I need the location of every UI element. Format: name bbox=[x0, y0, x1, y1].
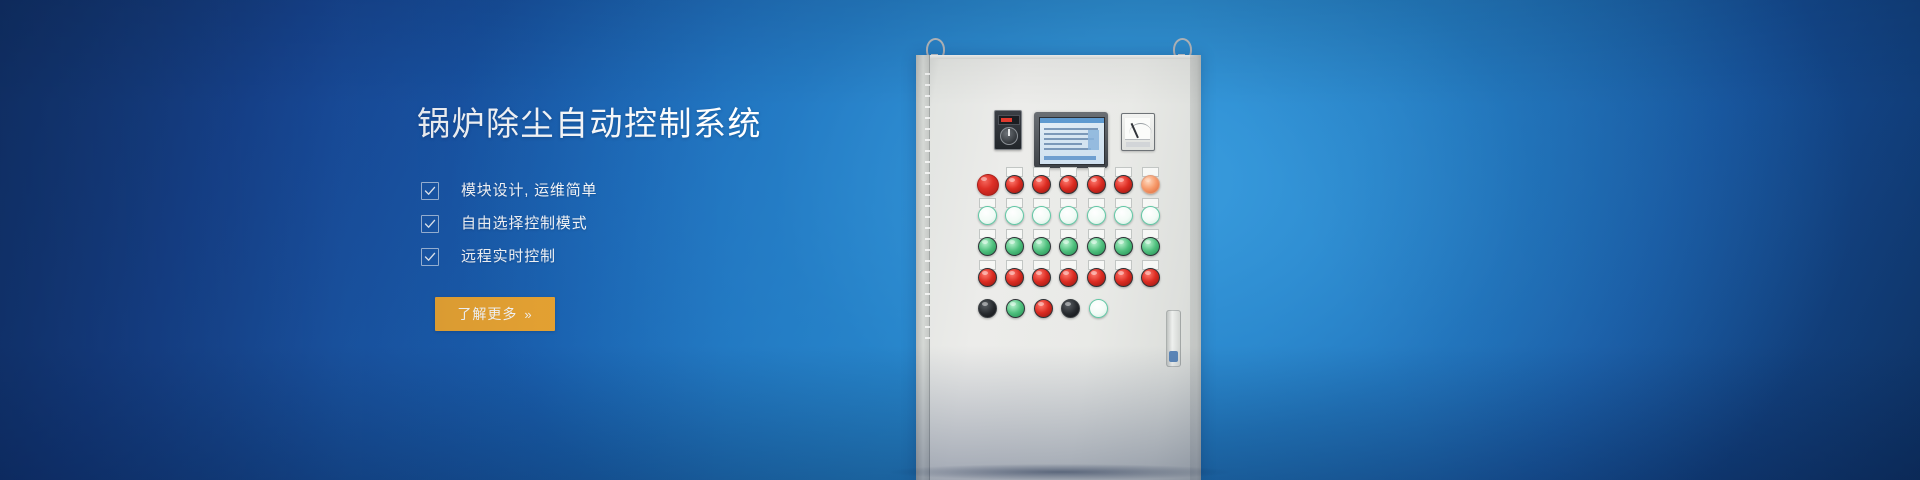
indicator-lamp-amber bbox=[1141, 175, 1158, 192]
indicator-lamp-green bbox=[978, 237, 995, 254]
indicator-lamp-green bbox=[1114, 237, 1131, 254]
lamp-row bbox=[978, 299, 1106, 316]
indicator-lamp-red bbox=[1059, 175, 1076, 192]
cabinet-top-edge bbox=[916, 55, 1201, 59]
list-item: 远程实时控制 bbox=[417, 240, 887, 273]
indicator-lamp-green bbox=[1059, 237, 1076, 254]
lamp-row bbox=[978, 237, 1158, 254]
meter-face bbox=[1125, 118, 1150, 140]
indicator-lamp-red bbox=[1032, 175, 1049, 192]
cabinet-body bbox=[916, 55, 1201, 480]
indicator-lamp-green bbox=[1005, 237, 1022, 254]
indicator-lamp-red bbox=[1114, 175, 1131, 192]
indicator-lamp-white bbox=[1141, 206, 1158, 223]
indicator-lamp-green bbox=[1006, 299, 1023, 316]
banner-copy-block: 锅炉除尘自动控制系统 模块设计, 运维简单 自由选择控制模式 bbox=[417, 104, 887, 331]
indicator-lamp-red bbox=[1005, 175, 1022, 192]
selector-switch-black bbox=[1061, 299, 1078, 316]
hinge-teeth bbox=[925, 73, 930, 373]
hero-banner: 锅炉除尘自动控制系统 模块设计, 运维简单 自由选择控制模式 bbox=[0, 0, 1920, 480]
indicator-lamp-white bbox=[1089, 299, 1106, 316]
indicator-lamp-grid bbox=[978, 175, 1158, 330]
hmi-touch-screen bbox=[1034, 112, 1108, 168]
indicator-lamp-white bbox=[978, 206, 995, 223]
feature-label: 自由选择控制模式 bbox=[461, 214, 587, 234]
analog-meter-icon bbox=[1121, 113, 1155, 151]
page-title: 锅炉除尘自动控制系统 bbox=[417, 104, 887, 144]
indicator-lamp-red bbox=[1087, 268, 1104, 285]
indicator-lamp-white bbox=[1059, 206, 1076, 223]
emergency-stop-button bbox=[978, 175, 995, 192]
check-square-icon bbox=[421, 215, 439, 233]
check-square-icon bbox=[421, 182, 439, 200]
learn-more-label: 了解更多 bbox=[457, 304, 517, 324]
meter-label-plate bbox=[1126, 142, 1150, 147]
indicator-lamp-green bbox=[1087, 237, 1104, 254]
check-square-icon bbox=[421, 248, 439, 266]
lamp-row bbox=[978, 206, 1158, 223]
feature-label: 模块设计, 运维简单 bbox=[461, 181, 597, 201]
indicator-lamp-green bbox=[1032, 237, 1049, 254]
indicator-lamp-red bbox=[1141, 268, 1158, 285]
indicator-lamp-red bbox=[1059, 268, 1076, 285]
list-item: 模块设计, 运维简单 bbox=[417, 174, 887, 207]
feature-list: 模块设计, 运维简单 自由选择控制模式 远程实时控制 bbox=[417, 174, 887, 273]
learn-more-button[interactable]: 了解更多 » bbox=[435, 297, 555, 331]
controller-display bbox=[998, 115, 1020, 125]
indicator-lamp-white bbox=[1032, 206, 1049, 223]
indicator-lamp-red bbox=[1034, 299, 1051, 316]
temperature-controller-icon bbox=[994, 110, 1022, 150]
control-cabinet-image bbox=[908, 0, 1208, 480]
indicator-lamp-green bbox=[1141, 237, 1158, 254]
lamp-row bbox=[978, 175, 1158, 192]
indicator-lamp-red bbox=[978, 268, 995, 285]
cabinet-hinge-strip bbox=[916, 55, 930, 480]
hmi-screen-surface bbox=[1039, 117, 1105, 165]
list-item: 自由选择控制模式 bbox=[417, 207, 887, 240]
feature-label: 远程实时控制 bbox=[461, 247, 556, 267]
controller-dial bbox=[1000, 127, 1018, 145]
double-chevron-right-icon: » bbox=[524, 307, 532, 322]
indicator-lamp-red bbox=[1032, 268, 1049, 285]
indicator-lamp-red bbox=[1087, 175, 1104, 192]
hmi-titlebar bbox=[1040, 118, 1104, 123]
cabinet-door-edge bbox=[1190, 55, 1201, 480]
cabinet-ground-shadow bbox=[890, 464, 1230, 480]
door-handle-lock bbox=[1166, 310, 1181, 367]
lamp-row bbox=[978, 268, 1158, 285]
indicator-lamp-red bbox=[1114, 268, 1131, 285]
indicator-lamp-white bbox=[1087, 206, 1104, 223]
indicator-lamp-red bbox=[1005, 268, 1022, 285]
selector-switch-black bbox=[978, 299, 995, 316]
indicator-lamp-white bbox=[1114, 206, 1131, 223]
indicator-lamp-white bbox=[1005, 206, 1022, 223]
